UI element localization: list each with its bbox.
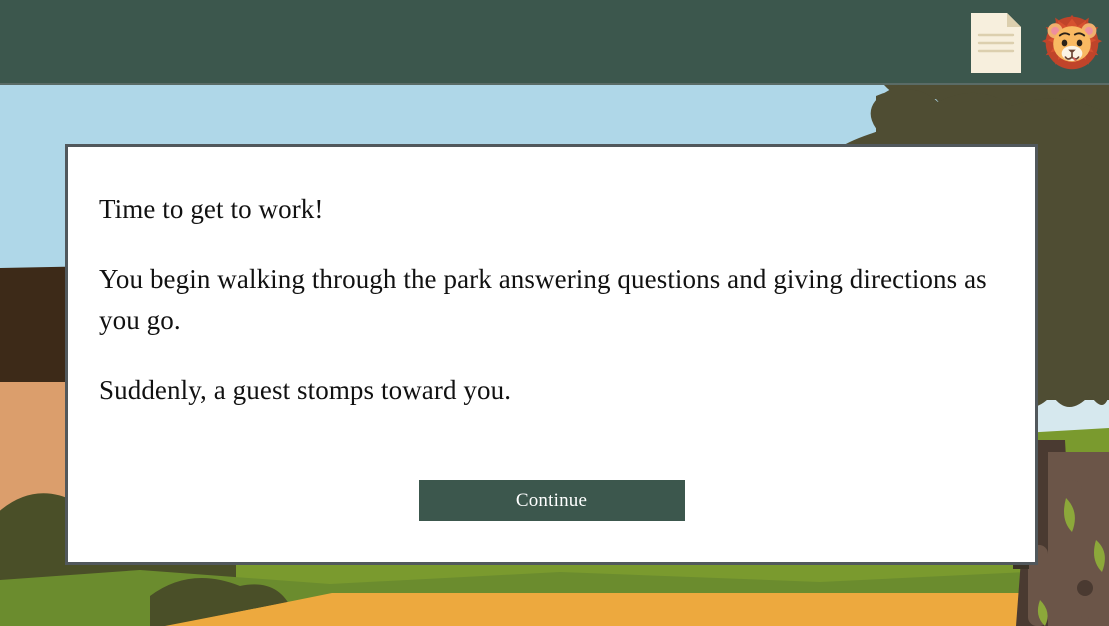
story-dialog-actions: Continue	[68, 480, 1035, 521]
continue-button[interactable]: Continue	[419, 480, 685, 521]
top-bar	[0, 0, 1109, 85]
lion-mascot-icon[interactable]	[1041, 12, 1103, 74]
top-bar-actions	[965, 0, 1103, 85]
story-dialog: Time to get to work! You begin walking t…	[65, 144, 1038, 565]
notes-page-icon[interactable]	[965, 12, 1027, 74]
app-stage: Time to get to work! You begin walking t…	[0, 0, 1109, 626]
story-paragraph-2: You begin walking through the park answe…	[99, 259, 1001, 341]
story-paragraph-1: Time to get to work!	[99, 189, 1001, 230]
story-paragraph-3: Suddenly, a guest stomps toward you.	[99, 370, 1001, 411]
story-dialog-body: Time to get to work! You begin walking t…	[68, 147, 1035, 411]
